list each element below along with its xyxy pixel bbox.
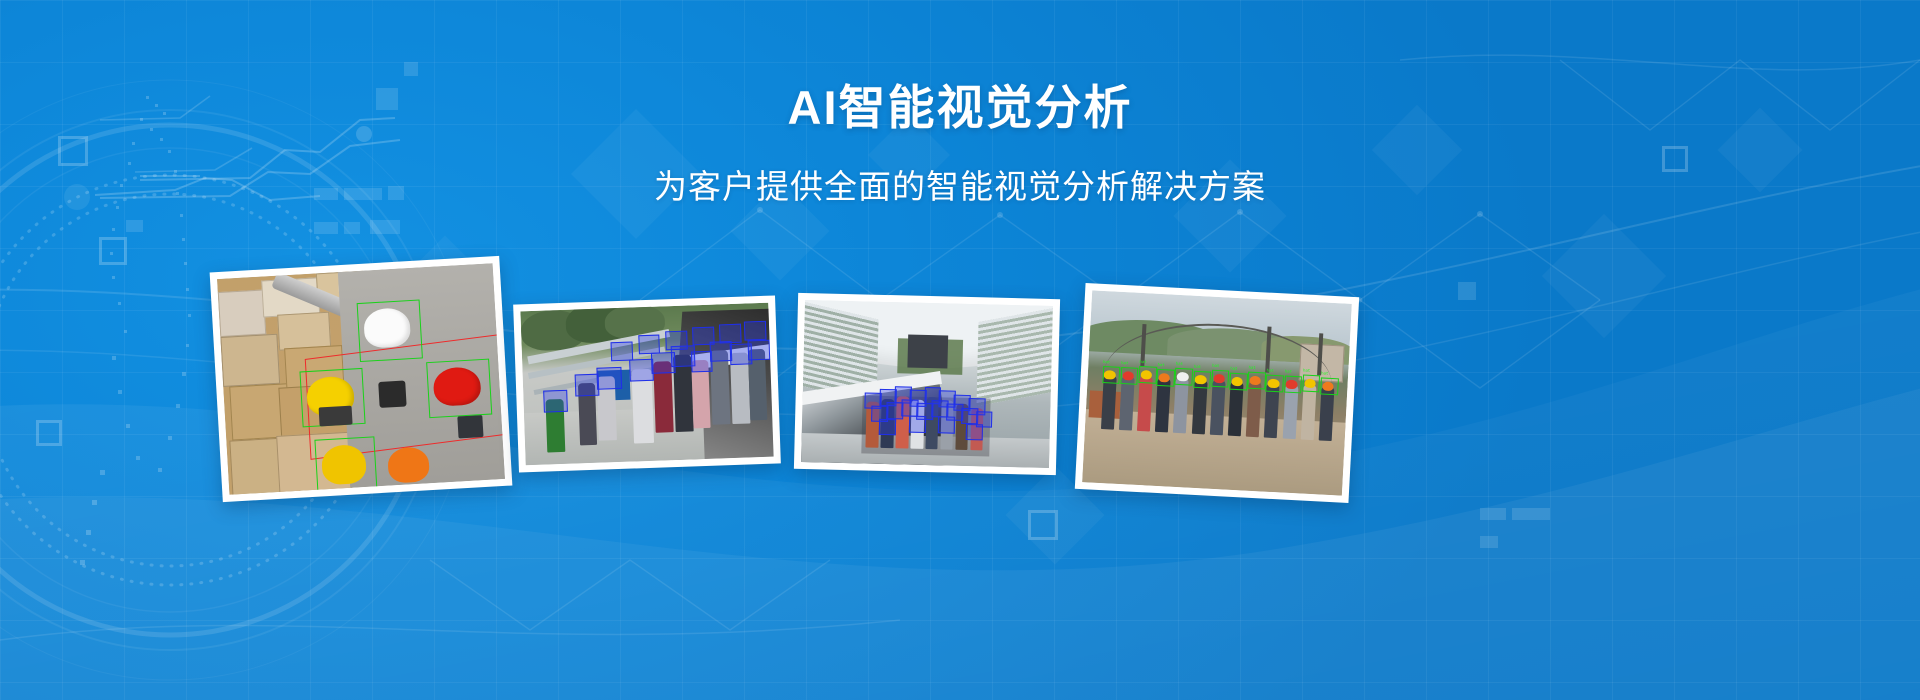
photo-warehouse [217,263,505,495]
gallery-card-footbridge-crowd-detection[interactable] [513,295,781,472]
detection-box-face [692,326,714,346]
detection-label-hat: hat [1139,359,1146,364]
detection-box-hat [1211,370,1229,388]
gallery-card-outdoor-group-helmet-detection[interactable]: hat hat hat hat hat hat hat hat hat hat [1075,283,1359,503]
detection-box-face [744,321,766,341]
detection-label-hat: hat [1157,362,1164,367]
detection-box-hat [1247,372,1265,390]
gallery-card-warehouse-helmet-detection[interactable] [210,256,513,502]
gallery-card-station-platform-crowd-detection[interactable] [794,293,1060,475]
detection-box-face [611,341,633,361]
detection-box-face [629,359,654,382]
photo-outdoor-group: hat hat hat hat hat hat hat hat hat hat [1082,290,1352,495]
detection-box-hat [1320,377,1338,395]
detection-box-helmet-4 [315,437,378,492]
detection-box-helmet-1 [357,300,423,362]
detection-box-face [638,334,660,354]
detection-box-hat [1302,374,1320,392]
detection-box-hat [1193,371,1211,389]
page-subtitle: 为客户提供全面的智能视觉分析解决方案 [0,160,1920,208]
detection-box-face [879,418,896,435]
detection-label-hat: hat [1303,368,1310,373]
detection-box-face [747,340,770,361]
detection-label-hat: hat [1194,364,1201,369]
detection-box-face [575,373,600,396]
detection-label-hat: hat [1266,368,1273,373]
detection-label-hat: hat [1103,359,1110,364]
detection-box-hat [1284,375,1302,393]
detection-label-hat: hat [1176,361,1183,366]
detection-box-hat [1102,366,1120,384]
detection-label-hat: hat [1248,365,1255,370]
detection-box-helmet-3 [426,359,492,419]
detection-box-face [665,330,687,350]
page-title: AI智能视觉分析 [0,82,1920,134]
detection-box-hat [1156,369,1174,387]
detection-box-face [965,424,982,441]
detection-box-hat [1265,374,1283,392]
banner-copy: AI智能视觉分析 为客户提供全面的智能视觉分析解决方案 [0,82,1920,208]
detection-label-hat: hat [1230,366,1237,371]
detection-box-hat [1120,367,1138,385]
detection-box-hat [1229,373,1247,391]
detection-box-hat [1138,366,1156,384]
detection-box-face [938,417,955,434]
detection-box-face [719,324,741,344]
detection-box-face [597,366,622,389]
photo-footbridge [520,303,773,466]
detection-box-hat [1175,368,1193,386]
detection-label-hat: hat [1321,370,1328,375]
detection-box-face [908,416,925,433]
photo-station-platform [801,300,1053,468]
ai-vision-banner: AI智能视觉分析 为客户提供全面的智能视觉分析解决方案 [0,0,1920,700]
detection-label-hat: hat [1121,360,1128,365]
detection-label-hat: hat [1212,363,1219,368]
detection-box-face [543,390,568,413]
detection-label-hat: hat [1285,368,1292,373]
